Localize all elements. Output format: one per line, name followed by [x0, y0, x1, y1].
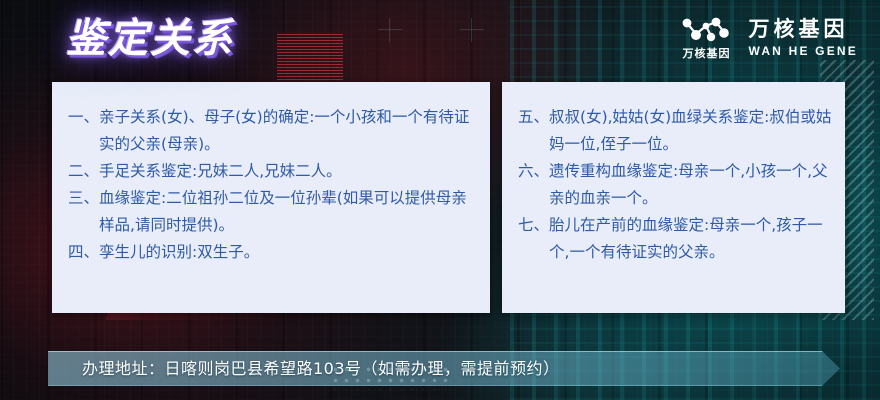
relationship-list-panel-left: 一、 亲子关系(女)、母子(女)的确定:一个小孩和一个有待证实的父亲(母亲)。 … [52, 82, 490, 313]
list-item-number: 一、 [68, 104, 99, 158]
address-text: 办理地址：日喀则岗巴县希望路103号（如需办理，需提前预约） [48, 359, 560, 379]
relationship-list-panel-right: 五、 叔叔(女),姑姑(女)血绿关系鉴定:叔伯或姑妈一位,侄子一位。 六、 遗传… [502, 82, 845, 313]
address-bar: 办理地址：日喀则岗巴县希望路103号（如需办理，需提前预约） [48, 351, 840, 386]
list-item: 二、 手足关系鉴定:兄妹二人,兄妹二人。 [68, 158, 478, 185]
list-item-text: 遗传重构血缘鉴定:母亲一个,小孩一个,父亲的血亲一个。 [549, 158, 833, 212]
list-item-text: 胎儿在产前的血缘鉴定:母亲一个,孩子一个,一个有待证实的父亲。 [549, 212, 833, 266]
list-item-number: 七、 [518, 212, 549, 266]
list-item-number: 五、 [518, 104, 549, 158]
list-item-number: 四、 [68, 239, 99, 266]
list-item: 一、 亲子关系(女)、母子(女)的确定:一个小孩和一个有待证实的父亲(母亲)。 [68, 104, 478, 158]
logo-name-cn: 万核基因 [748, 18, 858, 42]
logo-mark: 万核基因 [678, 16, 734, 60]
list-item-text: 孪生儿的识别:双生子。 [99, 239, 478, 266]
list-item-text: 叔叔(女),姑姑(女)血绿关系鉴定:叔伯或姑妈一位,侄子一位。 [549, 104, 833, 158]
logo-mark-label: 万核基因 [682, 48, 730, 60]
logo-wordmark: 万核基因 WAN HE GENE [748, 18, 858, 58]
list-item: 七、 胎儿在产前的血缘鉴定:母亲一个,孩子一个,一个有待证实的父亲。 [518, 212, 833, 266]
list-item-number: 二、 [68, 158, 99, 185]
list-item: 三、 血缘鉴定:二位祖孙二位及一位孙辈(如果可以提供母亲样品,请同时提供)。 [68, 185, 478, 239]
list-item-text: 血缘鉴定:二位祖孙二位及一位孙辈(如果可以提供母亲样品,请同时提供)。 [99, 185, 478, 239]
poster-canvas: 鉴定关系 万核基因 [0, 0, 880, 400]
list-item: 四、 孪生儿的识别:双生子。 [68, 239, 478, 266]
list-item-number: 六、 [518, 158, 549, 212]
list-item-text: 手足关系鉴定:兄妹二人,兄妹二人。 [99, 158, 478, 185]
page-title: 鉴定关系 [66, 12, 234, 66]
list-item-text: 亲子关系(女)、母子(女)的确定:一个小孩和一个有待证实的父亲(母亲)。 [99, 104, 478, 158]
brand-logo: 万核基因 万核基因 WAN HE GENE [678, 16, 858, 60]
molecule-icon [678, 16, 734, 46]
logo-name-en: WAN HE GENE [748, 44, 858, 58]
list-item: 五、 叔叔(女),姑姑(女)血绿关系鉴定:叔伯或姑妈一位,侄子一位。 [518, 104, 833, 158]
list-item: 六、 遗传重构血缘鉴定:母亲一个,小孩一个,父亲的血亲一个。 [518, 158, 833, 212]
list-item-number: 三、 [68, 185, 99, 239]
